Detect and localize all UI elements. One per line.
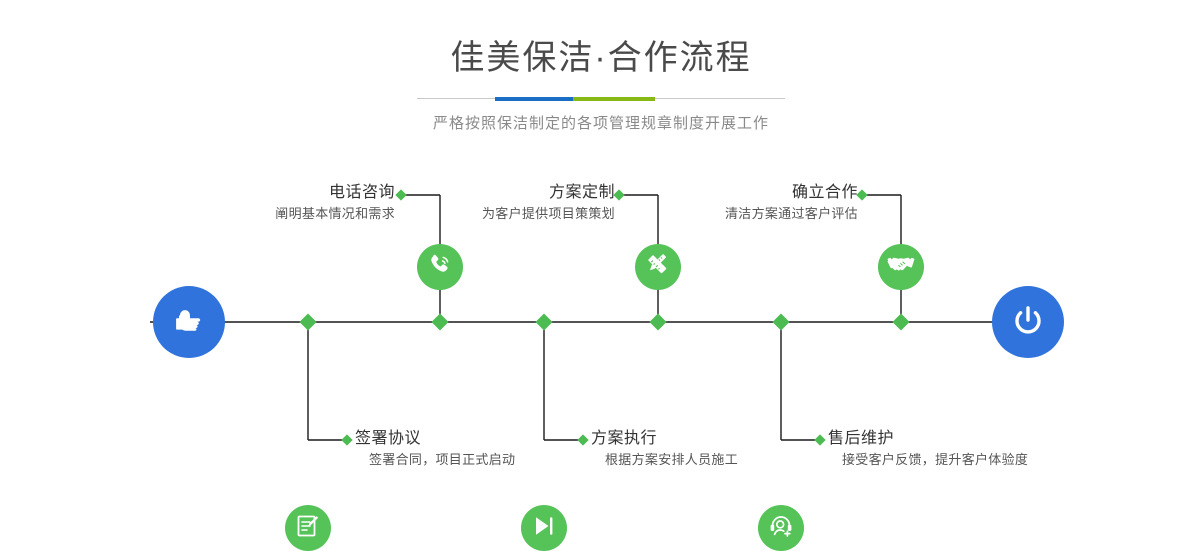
hand-pointing-right-icon [169, 300, 209, 345]
phone-call-icon [426, 251, 454, 284]
flow-end-node[interactable] [992, 286, 1064, 358]
step-2-label: 签署协议 签署合同，项目正式启动 [355, 428, 515, 470]
pencil-ruler-icon [645, 252, 671, 283]
flow-start-node[interactable] [153, 286, 225, 358]
customer-service-add-icon [768, 513, 794, 544]
step-1-title: 电话咨询 [150, 182, 395, 204]
step-5-title: 确立合作 [613, 182, 858, 204]
page-header: 佳美保洁·合作流程 严格按照保洁制定的各项管理规章制度开展工作 [0, 0, 1202, 133]
step-2-icon-node[interactable] [285, 505, 331, 551]
step-4-desc: 根据方案安排人员施工 [591, 450, 738, 470]
timeline-diamond-step-1 [432, 314, 449, 331]
document-sign-icon [295, 513, 321, 544]
step-1-desc: 阐明基本情况和需求 [150, 204, 395, 224]
divider-green-segment [573, 97, 655, 101]
timeline-diamond-step-5 [893, 314, 910, 331]
process-flow-diagram: 电话咨询 阐明基本情况和需求 方案定制 为客户提供项目策策划 确立合作 清洁方案… [0, 150, 1202, 502]
page-subtitle: 严格按照保洁制定的各项管理规章制度开展工作 [0, 99, 1202, 133]
step-4-label: 方案执行 根据方案安排人员施工 [591, 428, 738, 470]
step-6-label: 售后维护 接受客户反馈，提升客户体验度 [828, 428, 1028, 470]
title-divider [417, 98, 785, 99]
label-diamond-step-2 [341, 434, 352, 445]
step-3-label: 方案定制 为客户提供项目策策划 [370, 182, 615, 224]
step-1-label: 电话咨询 阐明基本情况和需求 [150, 182, 395, 224]
step-2-desc: 签署合同，项目正式启动 [355, 450, 515, 470]
step-2-title: 签署协议 [355, 428, 515, 450]
step-1-icon-node[interactable] [417, 244, 463, 290]
label-diamond-step-5 [856, 189, 867, 200]
play-execute-icon [531, 513, 557, 544]
step-3-title: 方案定制 [370, 182, 615, 204]
step-5-desc: 清洁方案通过客户评估 [613, 204, 858, 224]
step-3-icon-node[interactable] [635, 244, 681, 290]
step-3-desc: 为客户提供项目策策划 [370, 204, 615, 224]
timeline-diamond-step-4 [536, 314, 553, 331]
page-title: 佳美保洁·合作流程 [0, 0, 1202, 80]
step-6-desc: 接受客户反馈，提升客户体验度 [828, 450, 1028, 470]
step-5-label: 确立合作 清洁方案通过客户评估 [613, 182, 858, 224]
timeline-diamond-step-2 [300, 314, 317, 331]
label-diamond-step-6 [814, 434, 825, 445]
divider-blue-segment [495, 97, 573, 101]
handshake-icon [887, 251, 915, 284]
step-6-title: 售后维护 [828, 428, 1028, 450]
step-4-title: 方案执行 [591, 428, 738, 450]
timeline-diamond-step-6 [773, 314, 790, 331]
label-diamond-step-4 [577, 434, 588, 445]
step-6-icon-node[interactable] [758, 505, 804, 551]
step-4-icon-node[interactable] [521, 505, 567, 551]
timeline-diamond-step-3 [650, 314, 667, 331]
power-button-icon [1008, 300, 1048, 345]
step-5-icon-node[interactable] [878, 244, 924, 290]
